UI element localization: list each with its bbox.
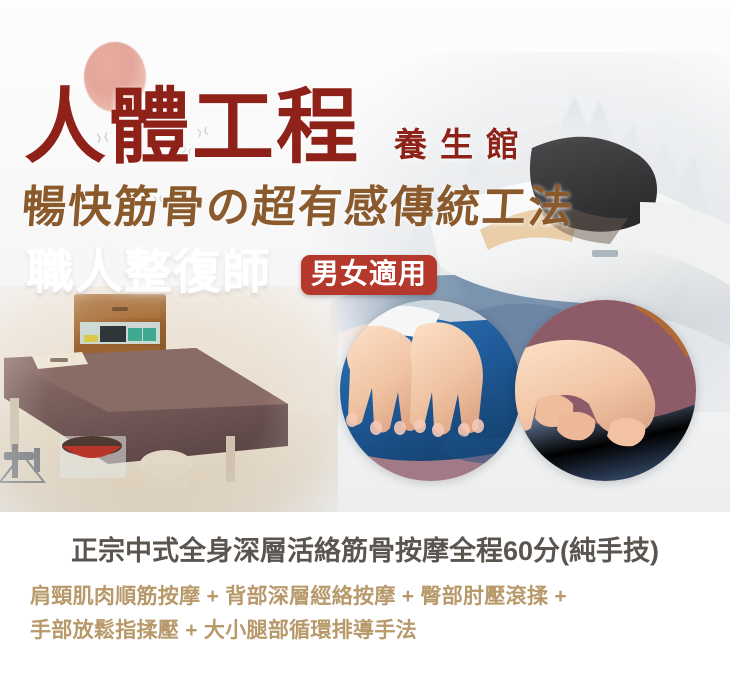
tagline: 暢快筋骨の超有感傳統工法 xyxy=(20,186,575,230)
hero-title-block: 人體工程 養生館 暢快筋骨の超有感傳統工法 職人整復師 男女適用 xyxy=(0,0,640,512)
service-headline: 正宗中式全身深層活絡筋骨按摩全程60分(純手技) xyxy=(0,536,730,567)
status-badge: 男女適用 xyxy=(301,255,437,295)
service-detail-line: 手部放鬆指揉壓 + 大小腿部循環排導手法 xyxy=(30,614,710,648)
role-title: 職人整復師 xyxy=(26,248,271,296)
brand-subtitle: 養生館 xyxy=(394,128,532,161)
copy-section: 正宗中式全身深層活絡筋骨按摩全程60分(純手技) 肩頸肌肉順筋按摩 + 背部深層… xyxy=(0,512,730,684)
page-title: 人體工程 xyxy=(24,86,360,168)
service-detail-list: 肩頸肌肉順筋按摩 + 背部深層經絡按摩 + 臀部肘壓滾揉 + 手部放鬆指揉壓 +… xyxy=(30,580,710,648)
hero-section: ❭❬ ❭❬ ❭❬ ❭❬ ❭❬ ❭❬ ❭❬ xyxy=(0,0,730,512)
service-detail-line: 肩頸肌肉順筋按摩 + 背部深層經絡按摩 + 臀部肘壓滾揉 + xyxy=(30,580,710,614)
promo-banner: ❭❬ ❭❬ ❭❬ ❭❬ ❭❬ ❭❬ ❭❬ xyxy=(0,0,730,684)
